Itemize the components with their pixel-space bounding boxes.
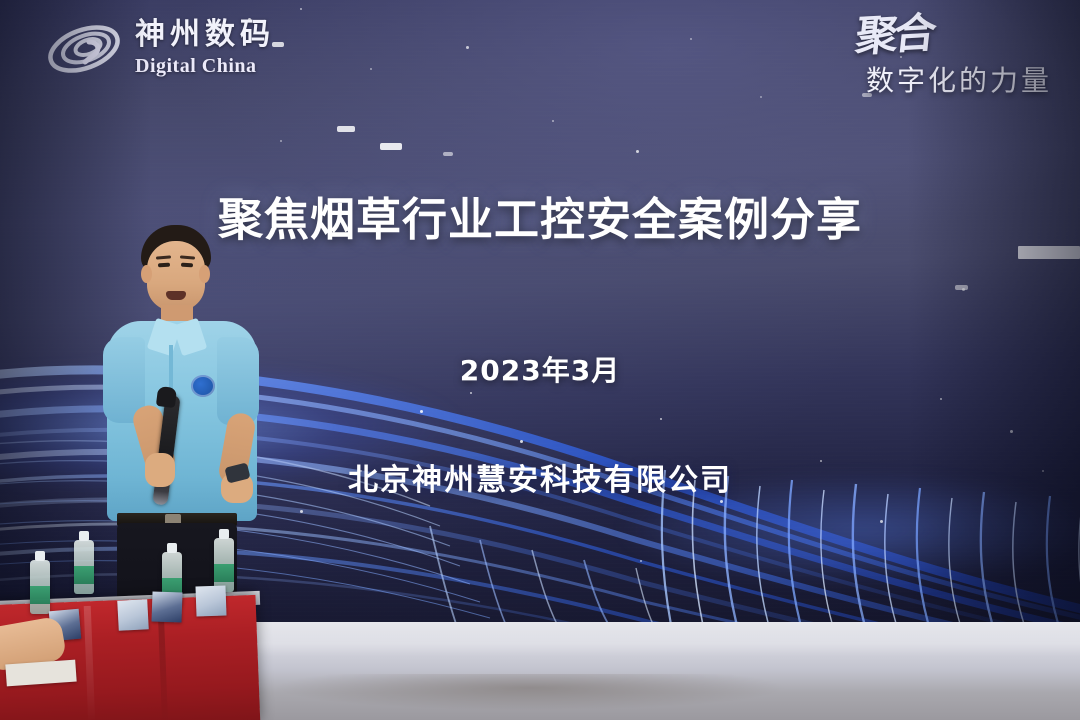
bottle-label bbox=[74, 566, 94, 584]
logo-name-en: Digital China bbox=[135, 55, 275, 78]
slogan-calligraphy: 聚合 bbox=[854, 14, 935, 57]
speaker-mouth bbox=[166, 291, 186, 300]
presentation-photo: 神州数码 Digital China 聚合 数字化的力量 聚焦烟草行业工控安全案… bbox=[0, 0, 1080, 720]
speaker-sleeve-right bbox=[217, 337, 259, 425]
water-bottle bbox=[214, 538, 234, 592]
screen-edge-bar bbox=[1018, 246, 1080, 259]
microphone-head bbox=[156, 386, 177, 408]
shirt-logo-emblem bbox=[191, 375, 215, 397]
bottle-cap bbox=[35, 551, 45, 561]
bottle-cap bbox=[219, 529, 229, 539]
speaker-eye-left bbox=[158, 263, 170, 268]
speaker-shirt-placket bbox=[169, 345, 173, 389]
logo-name-cn: 神州数码 bbox=[135, 20, 275, 50]
water-bottle bbox=[30, 560, 50, 614]
floor-shadow bbox=[210, 674, 850, 720]
speaker-ear-left bbox=[141, 265, 152, 283]
speaker-hand-left bbox=[145, 453, 175, 487]
digital-china-logo: 神州数码 Digital China bbox=[45, 18, 275, 80]
decor-dash bbox=[443, 152, 453, 156]
decor-dash bbox=[380, 143, 402, 150]
name-card bbox=[151, 591, 182, 622]
decor-dash bbox=[955, 285, 968, 290]
speaker-ear-right bbox=[199, 265, 210, 283]
speaker-figure bbox=[95, 225, 270, 625]
decor-dash bbox=[337, 126, 355, 132]
digital-china-swirl-icon bbox=[45, 18, 123, 80]
water-bottle bbox=[74, 540, 94, 594]
speaker-face bbox=[147, 241, 205, 311]
speaker-eye-right bbox=[181, 263, 193, 268]
bottle-label bbox=[214, 564, 234, 582]
event-slogan: 聚合 数字化的力量 bbox=[856, 16, 1052, 99]
name-card bbox=[195, 585, 226, 616]
slogan-subtitle: 数字化的力量 bbox=[856, 59, 1052, 99]
bottle-label bbox=[30, 586, 50, 604]
name-card bbox=[117, 599, 149, 631]
bottle-cap bbox=[167, 543, 177, 553]
bottle-cap bbox=[79, 531, 89, 541]
